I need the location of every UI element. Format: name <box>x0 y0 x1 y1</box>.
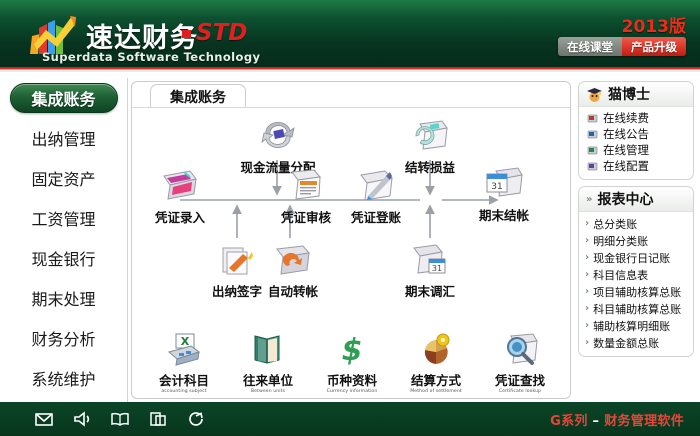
shortcut-label-en: Certificate lookup <box>480 389 560 394</box>
online-classroom-button[interactable]: 在线课堂 <box>558 37 622 56</box>
report-item-project-aux-ledger[interactable]: › 项目辅助核算总账 <box>579 283 693 300</box>
accounting-subject-icon: X <box>165 332 203 366</box>
report-item-subsidiary-ledger[interactable]: › 明细分类账 <box>579 232 693 249</box>
report-item-label: 辅助核算明细账 <box>593 318 670 334</box>
link-online-notice[interactable]: 在线公告 <box>579 126 693 142</box>
status-bar-icons <box>34 409 206 429</box>
book-icon[interactable] <box>110 409 130 429</box>
shortcut-label: 币种资料 <box>312 370 392 389</box>
node-label: 期末结帐 <box>460 205 548 224</box>
manage-icon <box>587 145 598 156</box>
sidebar-item-period-end[interactable]: 期末处理 <box>0 278 127 318</box>
report-center-header[interactable]: » 报表中心 <box>579 187 693 212</box>
tab-row: 集成账务 <box>132 82 570 108</box>
mail-icon[interactable] <box>34 409 54 429</box>
shortcut-between-units[interactable]: 往来单位 Between units <box>228 332 308 394</box>
period-close-icon: 31 <box>484 166 524 200</box>
currency-icon: $ <box>333 332 371 366</box>
shortcut-label: 会计科目 <box>144 370 224 389</box>
certificate-lookup-icon <box>501 332 539 366</box>
double-chevron-right-icon: » <box>586 194 592 205</box>
speaker-icon[interactable] <box>72 409 92 429</box>
product-upgrade-button[interactable]: 产品升级 <box>622 37 686 56</box>
between-units-icon <box>249 332 287 366</box>
link-online-renewal[interactable]: 在线续费 <box>579 110 693 126</box>
voucher-audit-icon <box>286 168 326 202</box>
renew-icon <box>587 113 598 124</box>
report-item-aux-detail-ledger[interactable]: › 辅助核算明细账 <box>579 317 693 334</box>
shortcut-label-en: Between units <box>228 389 308 394</box>
tab-underline <box>132 107 570 108</box>
shortcut-label: 往来单位 <box>228 370 308 389</box>
chevron-right-icon: › <box>585 337 589 348</box>
node-label: 期末调汇 <box>387 281 473 300</box>
shortcut-label: 结算方式 <box>396 370 476 389</box>
main-content-panel: 集成账务 <box>131 81 571 399</box>
chevron-right-icon: › <box>585 320 589 331</box>
version-badge: 2013版 <box>622 12 686 37</box>
product-label: 财务管理软件 <box>604 414 684 429</box>
svg-text:31: 31 <box>432 264 442 273</box>
node-auto-transfer[interactable]: 自动转帐 <box>250 242 336 300</box>
shortcut-row: X 会计科目 accounting subject 往来单位 Between u… <box>142 334 562 394</box>
shortcut-settlement-method[interactable]: 结算方式 Method of settlement <box>396 332 476 394</box>
node-label: 自动转帐 <box>250 281 336 300</box>
chevron-right-icon: › <box>585 252 589 263</box>
sidebar-item-fixed-assets[interactable]: 固定资产 <box>0 158 127 198</box>
period-fx-icon: 31 <box>410 242 450 276</box>
report-item-subject-info[interactable]: › 科目信息表 <box>579 266 693 283</box>
notice-icon <box>587 129 598 140</box>
chevron-right-icon: › <box>585 303 589 314</box>
voucher-entry-icon <box>160 168 200 202</box>
report-item-label: 现金银行日记账 <box>593 250 670 266</box>
chevron-right-icon: › <box>585 218 589 229</box>
link-online-management[interactable]: 在线管理 <box>579 142 693 158</box>
sidebar-item-system-maintenance[interactable]: 系统维护 <box>0 358 127 398</box>
svg-text:$: $ <box>342 333 363 366</box>
report-item-quantity-amount-ledger[interactable]: › 数量金额总账 <box>579 334 693 351</box>
link-label: 在线配置 <box>603 158 649 174</box>
auto-transfer-icon <box>273 242 313 276</box>
link-online-config[interactable]: 在线配置 <box>579 158 693 174</box>
sidebar-item-payroll[interactable]: 工资管理 <box>0 198 127 238</box>
app-header: 速达财务 STD Superdata Software Technology 2… <box>0 0 700 72</box>
report-item-general-ledger[interactable]: › 总分类账 <box>579 215 693 232</box>
node-voucher-entry[interactable]: 凭证录入 <box>136 168 224 226</box>
doctor-card-header: 猫博士 <box>579 82 693 107</box>
main-sidebar: 集成账务 出纳管理 固定资产 工资管理 现金银行 期末处理 财务分析 系统维护 <box>0 78 128 402</box>
sidebar-item-financial-analysis[interactable]: 财务分析 <box>0 318 127 358</box>
report-item-label: 明细分类账 <box>593 233 648 249</box>
report-item-label: 项目辅助核算总账 <box>593 284 681 300</box>
status-bar: G系列 – 财务管理软件 <box>0 402 700 436</box>
sidebar-item-label: 集成账务 <box>10 83 118 113</box>
chevron-right-icon: › <box>585 269 589 280</box>
chevron-right-icon: › <box>585 286 589 297</box>
svg-text:X: X <box>181 335 190 348</box>
settlement-icon <box>417 332 455 366</box>
link-label: 在线管理 <box>603 142 649 158</box>
copy-icon[interactable] <box>148 409 168 429</box>
node-voucher-posting[interactable]: 凭证登账 <box>332 168 420 226</box>
config-icon <box>587 161 598 172</box>
edition-label: STD <box>196 20 247 46</box>
right-panel: 猫博士 在线续费 在线公告 <box>578 81 696 399</box>
shortcut-label-en: Currency information <box>312 389 392 394</box>
series-label: G系列 <box>550 414 588 429</box>
shortcut-label-en: accounting subject <box>144 389 224 394</box>
report-item-label: 科目信息表 <box>593 267 648 283</box>
sidebar-item-cashier-management[interactable]: 出纳管理 <box>0 118 127 158</box>
report-center-title: 报表中心 <box>597 189 653 209</box>
doctor-card: 猫博士 在线续费 在线公告 <box>578 81 694 180</box>
shortcut-label: 凭证查找 <box>480 370 560 389</box>
graduation-cap-icon <box>586 86 603 103</box>
sidebar-item-integrated-accounting[interactable]: 集成账务 <box>0 78 127 118</box>
report-item-subject-aux-ledger[interactable]: › 科目辅助核算总账 <box>579 300 693 317</box>
report-item-label: 数量金额总账 <box>593 335 659 351</box>
header-button-group: 在线课堂 产品升级 <box>558 37 686 56</box>
company-tagline: Superdata Software Technology <box>42 50 260 64</box>
cash-flow-icon <box>258 118 298 152</box>
shortcut-certificate-lookup[interactable]: 凭证查找 Certificate lookup <box>480 332 560 394</box>
node-label: 凭证登账 <box>332 207 420 226</box>
report-item-label: 科目辅助核算总账 <box>593 301 681 317</box>
chevron-right-icon: › <box>585 235 589 246</box>
link-label: 在线续费 <box>603 110 649 126</box>
shortcut-accounting-subject[interactable]: X 会计科目 accounting subject <box>144 332 224 394</box>
doctor-card-title: 猫博士 <box>608 84 650 104</box>
separator: – <box>588 414 604 429</box>
shortcut-currency-info[interactable]: $ 币种资料 Currency information <box>312 332 392 394</box>
product-footer-text: G系列 – 财务管理软件 <box>550 410 684 429</box>
tab-integrated-accounting[interactable]: 集成账务 <box>150 84 246 108</box>
refresh-icon[interactable] <box>186 409 206 429</box>
carry-forward-icon <box>410 118 450 152</box>
report-item-cash-bank-journal[interactable]: › 现金银行日记账 <box>579 249 693 266</box>
node-label: 凭证录入 <box>136 207 224 226</box>
svg-text:31: 31 <box>491 182 502 192</box>
report-center-card: » 报表中心 › 总分类账 › 明细分类账 › 现金银行日记账 › 科目信息表 … <box>578 186 694 357</box>
link-label: 在线公告 <box>603 126 649 142</box>
node-period-end-closing[interactable]: 31 期末结帐 <box>460 166 548 224</box>
node-period-end-fx[interactable]: 31 期末调汇 <box>387 242 473 300</box>
shortcut-label-en: Method of settlement <box>396 389 476 394</box>
sidebar-item-cash-bank[interactable]: 现金银行 <box>0 238 127 278</box>
report-item-label: 总分类账 <box>593 216 637 232</box>
title-dash <box>182 30 191 38</box>
